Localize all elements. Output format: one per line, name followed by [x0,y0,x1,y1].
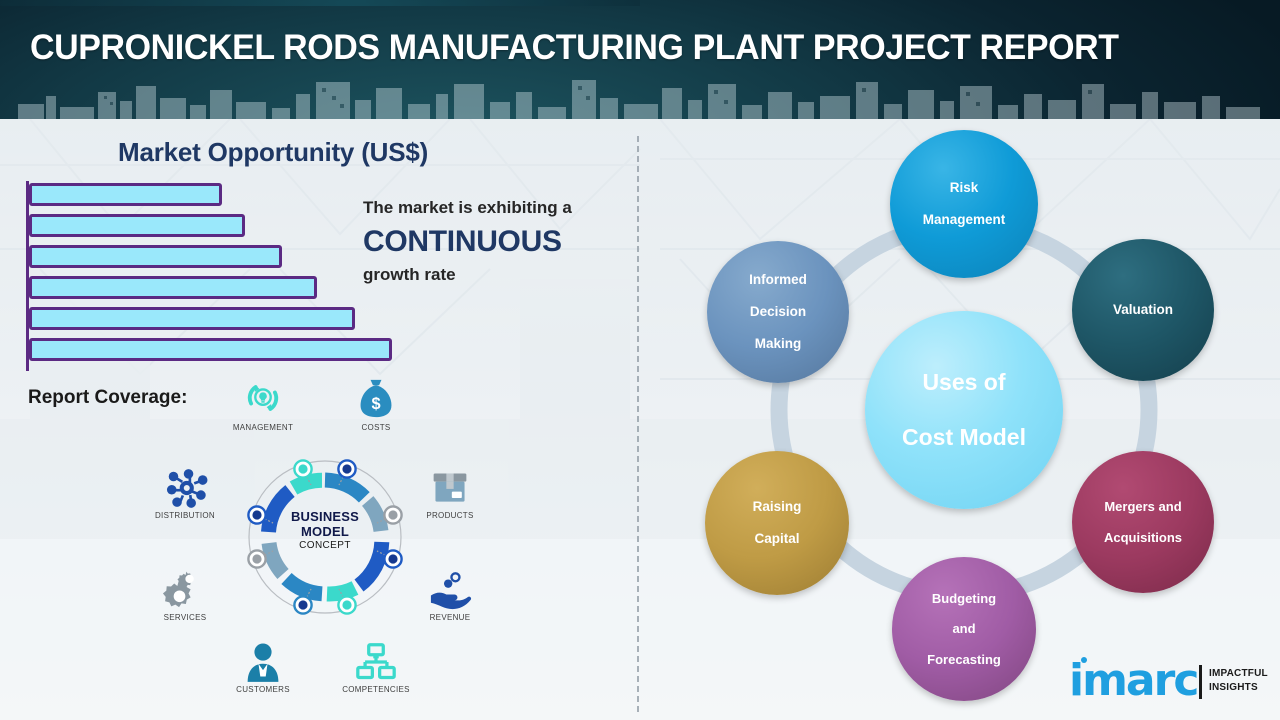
growth-line-1: The market is exhibiting a [363,197,638,218]
refresh-bulb-icon [215,374,311,420]
growth-emphasis: CONTINUOUS [363,222,638,261]
center-node-uses-of-cost-model: Uses of Cost Model [865,311,1063,509]
node-label-line: Making [743,336,813,352]
chart-bar [29,245,282,268]
node-label-line: Mergers and [1098,499,1188,514]
org-chart-icon [328,636,424,682]
right-panel: Uses of Cost Model Risk Management Valua… [637,119,1280,720]
logo-tagline: IMPACTFUL INSIGHTS [1209,667,1268,694]
header-top-strip [0,0,640,6]
market-opportunity-title: Market Opportunity (US$) [118,137,428,168]
page-header: CUPRONICKEL RODS MANUFACTURING PLANT PRO… [0,0,1280,119]
report-coverage-cluster: MANAGEMENT $ COSTS [140,374,540,714]
coverage-item-distribution: DISTRIBUTION [137,462,233,520]
growth-statement: The market is exhibiting a CONTINUOUS gr… [363,197,638,285]
node-label-line: Informed [743,272,813,288]
coverage-label: COMPETENCIES [328,685,424,694]
coverage-item-customers: CUSTOMERS [215,636,311,694]
coverage-label: COSTS [328,423,424,432]
node-mergers-and-acquisitions[interactable]: Mergers and Acquisitions [1072,451,1214,593]
coverage-label: PRODUCTS [402,511,498,520]
node-risk-management[interactable]: Risk Management [890,130,1038,278]
chart-bar [29,276,317,299]
node-budgeting-and-forecasting[interactable]: Budgeting and Forecasting [892,557,1036,701]
coverage-item-products: PRODUCTS [402,462,498,520]
chart-bar [29,214,245,237]
hand-coins-icon [402,564,498,610]
node-label-line: Valuation [1107,302,1179,318]
node-raising-capital[interactable]: Raising Capital [705,451,849,595]
chart-bar [29,338,392,361]
svg-text:$: $ [371,395,380,413]
coverage-item-services: SERVICES [137,564,233,622]
imarc-logo[interactable]: imarc IMPACTFUL INSIGHTS [1069,659,1269,711]
node-label-line: Decision [743,304,813,320]
page-title: CUPRONICKEL RODS MANUFACTURING PLANT PRO… [30,28,1119,68]
growth-line-3: growth rate [363,265,638,285]
business-model-wheel: BUSINESS MODEL CONCEPT [235,447,415,627]
coverage-label: DISTRIBUTION [137,511,233,520]
wheel-line-2: MODEL [235,524,415,539]
center-line-1: Uses of [896,369,1032,396]
wheel-line-1: BUSINESS [235,509,415,524]
coverage-label: CUSTOMERS [215,685,311,694]
coverage-label: REVENUE [402,613,498,622]
network-nodes-icon [137,462,233,508]
node-label-line: and [921,621,1007,636]
coverage-item-competencies: COMPETENCIES [328,636,424,694]
logo-dot [1081,657,1087,663]
node-label-line: Capital [747,531,808,547]
coverage-item-costs: $ COSTS [328,374,424,432]
node-valuation[interactable]: Valuation [1072,239,1214,381]
chart-bar [29,307,355,330]
coverage-label: MANAGEMENT [215,423,311,432]
coverage-item-revenue: REVENUE [402,564,498,622]
node-label-line: Risk [917,180,1012,196]
money-bag-icon: $ [328,374,424,420]
coverage-item-management: MANAGEMENT [215,374,311,432]
node-label-line: Management [917,212,1012,228]
person-user-icon [215,636,311,682]
logo-tagline-line-1: IMPACTFUL [1209,667,1268,681]
node-label-line: Budgeting [921,591,1007,606]
wheel-line-3: CONCEPT [235,540,415,551]
left-panel: Market Opportunity (US$) The market is e… [0,119,637,720]
logo-separator [1199,665,1202,699]
city-skyline-graphic [0,74,1280,119]
node-informed-decision-making[interactable]: Informed Decision Making [707,241,849,383]
logo-tagline-line-2: INSIGHTS [1209,681,1268,695]
node-label-line: Raising [747,499,808,515]
box-package-icon [402,462,498,508]
coverage-label: SERVICES [137,613,233,622]
center-line-2: Cost Model [896,424,1032,451]
node-label-line: Acquisitions [1098,530,1188,545]
chart-bar [29,183,222,206]
gears-icon [137,564,233,610]
node-label-line: Forecasting [921,652,1007,667]
